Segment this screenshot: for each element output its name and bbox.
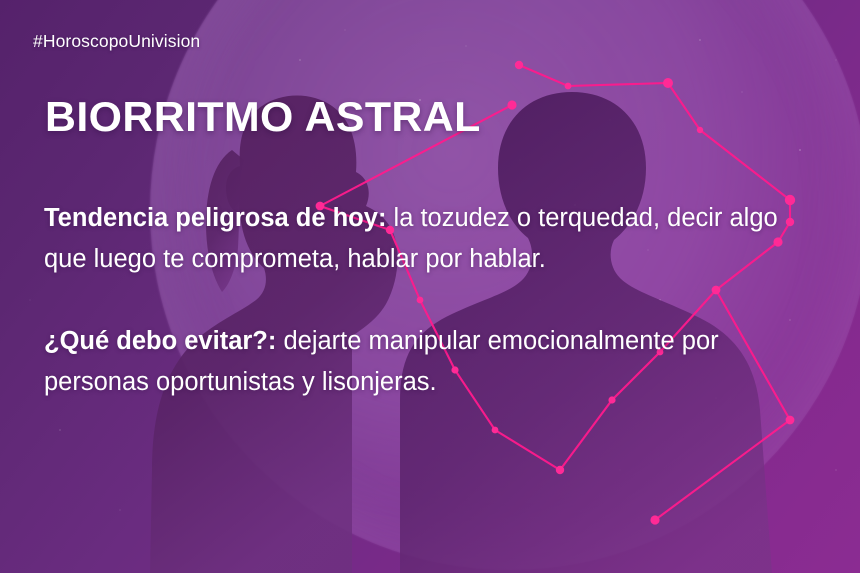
hashtag-label: #HoroscopoUnivision — [33, 31, 200, 52]
lead-evitar: ¿Qué debo evitar?: — [44, 327, 276, 355]
paragraph-spacer — [44, 280, 804, 321]
lead-tendencia: Tendencia peligrosa de hoy: — [44, 204, 386, 232]
body-copy: Tendencia peligrosa de hoy: la tozudez o… — [44, 198, 804, 403]
paragraph-evitar: ¿Qué debo evitar?: dejarte manipular emo… — [44, 321, 804, 403]
paragraph-tendencia: Tendencia peligrosa de hoy: la tozudez o… — [44, 198, 804, 280]
content-layer: #HoroscopoUnivision BIORRITMO ASTRAL Ten… — [0, 0, 860, 573]
page-title: BIORRITMO ASTRAL — [45, 95, 481, 139]
horoscope-card: #HoroscopoUnivision BIORRITMO ASTRAL Ten… — [0, 0, 860, 573]
